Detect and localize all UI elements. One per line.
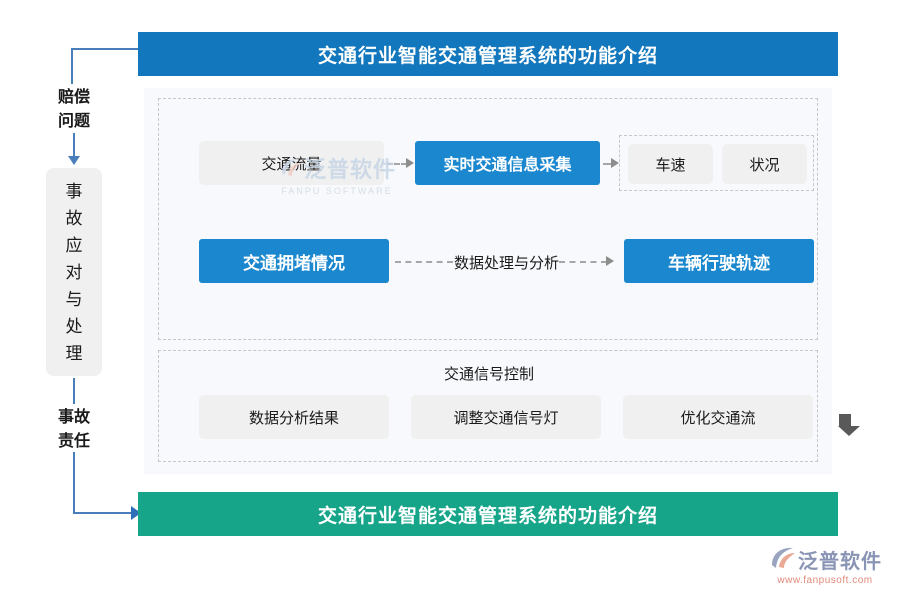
sidebar-vertical-box-accident-handling[interactable]: 事 故 应 对 与 处 理	[46, 168, 102, 376]
vertical-char: 与	[66, 286, 83, 313]
brand-logo[interactable]: 泛普软件 www.fanpusoft.com	[760, 544, 890, 586]
connector-line-bottom-vertical	[73, 452, 75, 514]
vertical-char: 事	[66, 178, 83, 205]
connector-flow-to-collect	[387, 163, 407, 165]
node-traffic-flow[interactable]: 交通流量	[199, 141, 384, 185]
down-arrow-icon	[838, 414, 852, 436]
connector-line-low-vertical	[73, 378, 75, 404]
sidebar-label-compensation: 赔偿 问题	[42, 86, 106, 134]
arrowhead-down-sidebar	[68, 156, 80, 165]
node-traffic-flow-label: 交通流量	[261, 153, 321, 174]
vertical-char: 理	[66, 340, 83, 367]
footer-banner[interactable]: 交通行业智能交通管理系统的功能介绍	[138, 492, 838, 536]
vertical-char: 对	[66, 259, 83, 286]
node-speed-label: 车速	[655, 154, 685, 175]
node-vehicle-trajectory[interactable]: 车辆行驶轨迹	[624, 239, 814, 283]
node-analysis-result-label: 数据分析结果	[249, 407, 339, 428]
node-traffic-congestion-label: 交通拥堵情况	[243, 249, 345, 274]
connector-line-bottom-horizontal	[73, 512, 133, 514]
fanpu-logo-icon	[768, 544, 798, 574]
footer-banner-title: 交通行业智能交通管理系统的功能介绍	[318, 501, 658, 528]
brand-name: 泛普软件	[798, 545, 882, 574]
upper-flow-region: 交通流量 实时交通信息采集 车速 状况 交通拥堵情况 数据处理	[158, 98, 818, 340]
vertical-char: 应	[66, 232, 83, 259]
arrowhead-label-to-trajectory	[606, 256, 614, 266]
vertical-char: 故	[66, 205, 83, 232]
section-title-signal-control: 交通信号控制	[159, 363, 819, 384]
connector-line-top-horizontal	[71, 48, 140, 50]
vertical-char: 处	[66, 313, 83, 340]
traffic-signal-control-region: 交通信号控制 数据分析结果 调整交通信号灯 优化交通流	[158, 350, 818, 462]
node-optimize-traffic-flow[interactable]: 优化交通流	[623, 395, 813, 439]
diagram-canvas: 赔偿 问题 事 故 应 对 与 处 理 事故 责任 交通行业智能交通管理系统的功…	[0, 0, 900, 600]
brand-url: www.fanpusoft.com	[777, 575, 872, 586]
attribute-group-container: 车速 状况	[619, 135, 814, 191]
node-adjust-traffic-light[interactable]: 调整交通信号灯	[411, 395, 601, 439]
node-vehicle-trajectory-label: 车辆行驶轨迹	[668, 249, 770, 274]
header-banner-title: 交通行业智能交通管理系统的功能介绍	[318, 41, 658, 68]
connector-line-top-vertical	[71, 48, 73, 84]
node-condition-label: 状况	[749, 154, 779, 175]
header-banner[interactable]: 交通行业智能交通管理系统的功能介绍	[138, 32, 838, 76]
arrowhead-collect-to-attrs	[611, 158, 619, 168]
connector-label-to-trajectory	[559, 261, 607, 263]
node-traffic-congestion[interactable]: 交通拥堵情况	[199, 239, 389, 283]
node-speed[interactable]: 车速	[628, 144, 713, 184]
main-panel: 交通流量 实时交通信息采集 车速 状况 交通拥堵情况 数据处理	[144, 88, 832, 474]
node-adjust-traffic-light-label: 调整交通信号灯	[453, 407, 558, 428]
node-optimize-traffic-flow-label: 优化交通流	[680, 407, 755, 428]
arrowhead-flow-to-collect	[406, 158, 414, 168]
node-analysis-result[interactable]: 数据分析结果	[199, 395, 389, 439]
node-realtime-collection-label: 实时交通信息采集	[443, 151, 571, 175]
sidebar-label-responsibility: 事故 责任	[42, 406, 106, 454]
node-realtime-collection[interactable]: 实时交通信息采集	[415, 141, 600, 185]
node-condition[interactable]: 状况	[722, 144, 807, 184]
